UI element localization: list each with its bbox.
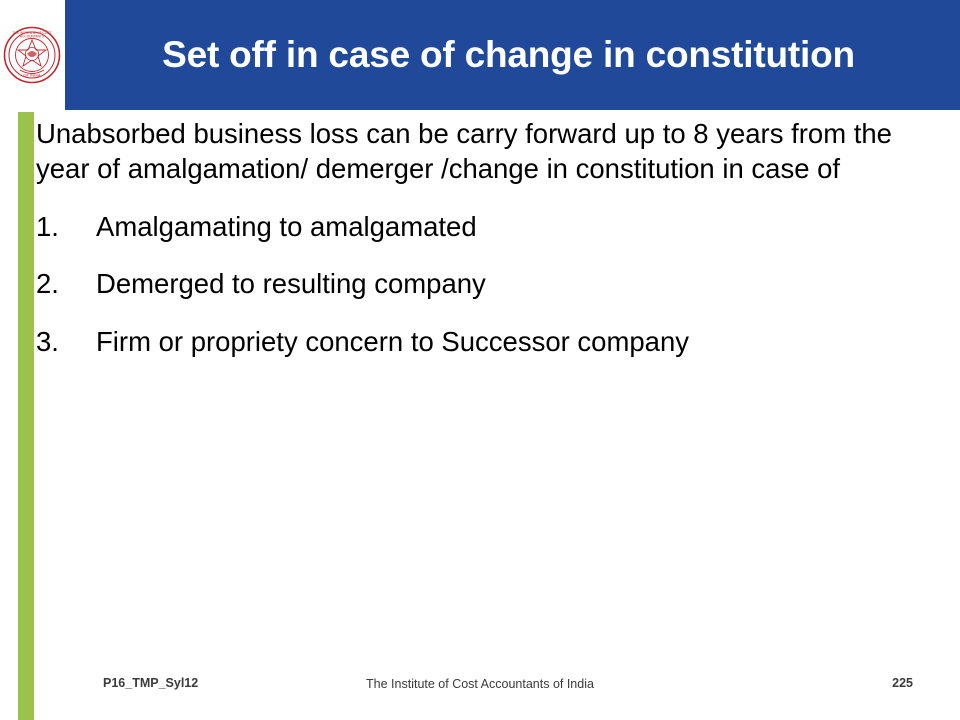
svg-text:OF INDIA: OF INDIA [23, 73, 41, 78]
institute-emblem-icon: OF INDIA THE INSTITUTE OF COST ACCOUNTAN… [3, 26, 61, 84]
institute-logo: OF INDIA THE INSTITUTE OF COST ACCOUNTAN… [0, 2, 64, 108]
list-item-label: Firm or propriety concern to Successor c… [96, 325, 936, 359]
intro-paragraph: Unabsorbed business loss can be carry fo… [36, 116, 916, 187]
list-item: 3. Firm or propriety concern to Successo… [36, 325, 936, 359]
left-accent-bar [18, 112, 34, 720]
svg-text:ACCOUNTANTS: ACCOUNTANTS [20, 35, 44, 39]
footer-page-number: 225 [892, 676, 913, 690]
slide-body: Unabsorbed business loss can be carry fo… [36, 116, 936, 359]
list-item-label: Amalgamating to amalgamated [96, 210, 936, 244]
footer-organization: The Institute of Cost Accountants of Ind… [0, 677, 960, 691]
list-item-number: 3. [36, 325, 96, 359]
slide-footer: P16_TMP_Syl12 The Institute of Cost Acco… [0, 676, 960, 702]
list-item: 2. Demerged to resulting company [36, 267, 936, 301]
list-item: 1. Amalgamating to amalgamated [36, 210, 936, 244]
list-item-number: 2. [36, 267, 96, 301]
numbered-list: 1. Amalgamating to amalgamated 2. Demerg… [36, 210, 936, 359]
slide-title: Set off in case of change in constitutio… [65, 0, 960, 110]
list-item-number: 1. [36, 210, 96, 244]
list-item-label: Demerged to resulting company [96, 267, 936, 301]
